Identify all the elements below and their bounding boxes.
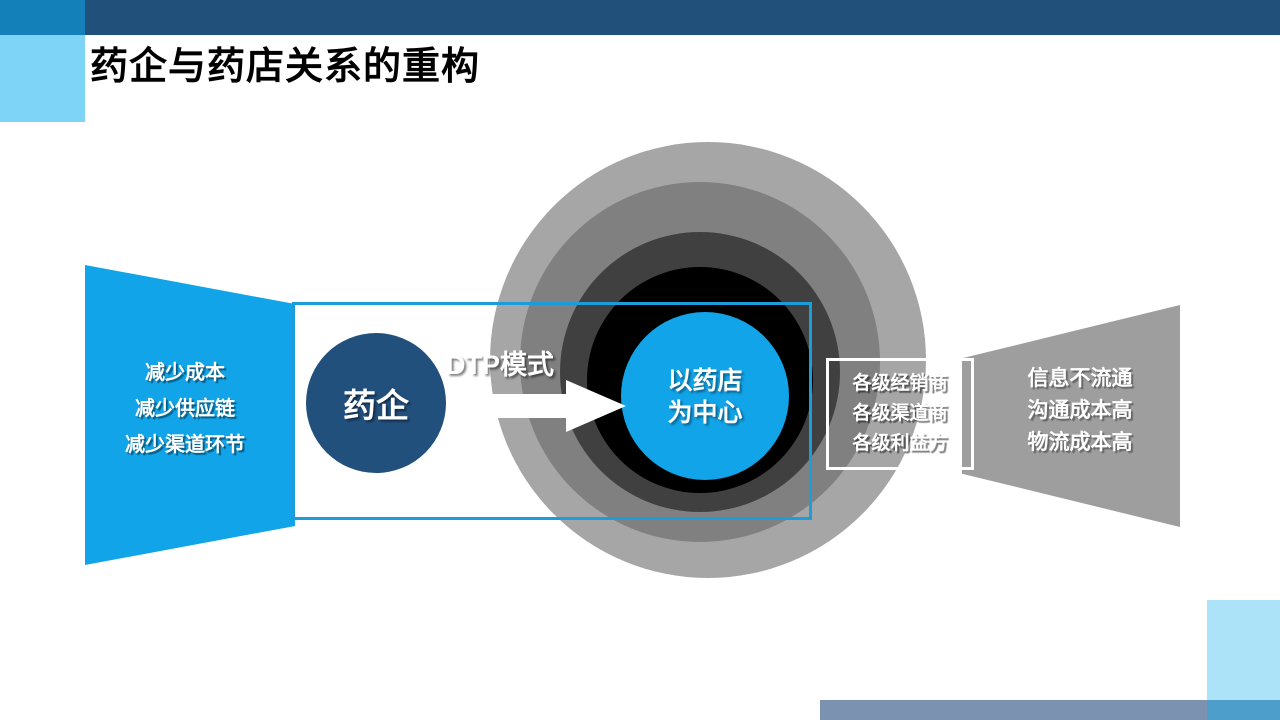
center-node-line-2: 为中心 [621, 397, 789, 429]
distributor-box: 各级经销商 各级渠道商 各级利益方 [826, 358, 974, 470]
distributor-line-2: 各级渠道商 [852, 399, 947, 429]
pharma-company-label: 药企 [343, 379, 409, 427]
center-node-labels: 以药店 为中心 [621, 365, 789, 429]
dtp-arrow-label: DTP模式 [446, 343, 616, 382]
footer-accent-block-lightblue [1207, 600, 1280, 700]
dtp-arrow-icon [446, 380, 626, 432]
footer-bar-blue [1207, 700, 1280, 720]
center-node-line-1: 以药店 [621, 365, 789, 397]
distributor-line-3: 各级利益方 [852, 429, 947, 459]
footer-bar-gray [820, 700, 1207, 720]
pharma-company-node: 药企 [306, 333, 446, 473]
right-funnel-line-2: 沟通成本高 [990, 395, 1170, 427]
distributor-line-1: 各级经销商 [852, 369, 947, 399]
right-funnel-line-1: 信息不流通 [990, 363, 1170, 395]
right-funnel-line-3: 物流成本高 [990, 427, 1170, 459]
right-funnel-labels: 信息不流通 沟通成本高 物流成本高 [990, 363, 1170, 459]
